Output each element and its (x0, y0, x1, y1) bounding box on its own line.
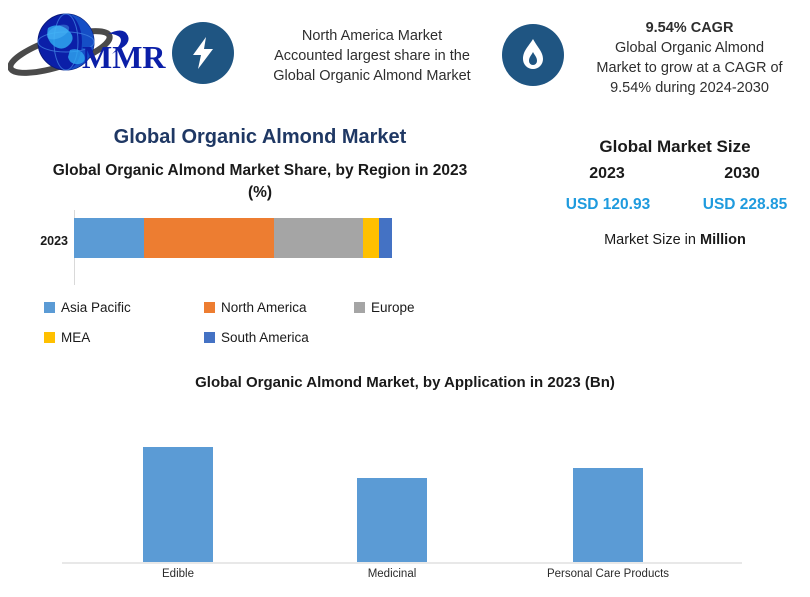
stack-segment-north-america[interactable] (144, 218, 274, 258)
svg-text:MMR: MMR (82, 39, 166, 75)
legend-swatch-icon (44, 332, 55, 343)
bar-medicinal[interactable] (357, 478, 427, 562)
region-share-legend: Asia Pacific North America Europe MEA So… (44, 292, 464, 352)
application-chart-title: Global Organic Almond Market, by Applica… (55, 374, 755, 391)
market-size-title: Global Market Size (540, 137, 810, 157)
legend-label: Asia Pacific (61, 300, 131, 315)
page-title: Global Organic Almond Market (30, 126, 490, 149)
legend-item-south-america[interactable]: South America (204, 330, 354, 345)
market-size-unit-note: Market Size in Million (540, 232, 810, 248)
chart-baseline-axis (62, 562, 742, 564)
lightning-bolt-icon (172, 22, 234, 84)
market-size-year-2023: 2023 (557, 165, 657, 183)
legend-item-europe[interactable]: Europe (354, 300, 464, 315)
bar-label-personal-care-products: Personal Care Products (518, 568, 698, 580)
market-size-value-2023: USD 120.93 (548, 196, 668, 214)
market-size-unit-value: Million (700, 232, 746, 248)
bar-personal-care-products[interactable] (573, 468, 643, 562)
header-line: Accounted largest share in the (244, 46, 500, 66)
application-bar-chart: Edible Medicinal Personal Care Products (0, 400, 810, 597)
mmr-logo: MMR (8, 10, 168, 82)
bar-label-edible: Edible (88, 568, 268, 580)
header-cagr-text: 9.54% CAGR Global Organic Almond Market … (572, 18, 807, 98)
header-line: 9.54% during 2024-2030 (572, 78, 807, 98)
stack-segment-europe[interactable] (274, 218, 363, 258)
legend-swatch-icon (204, 302, 215, 313)
bar-label-medicinal: Medicinal (302, 568, 482, 580)
legend-item-mea[interactable]: MEA (44, 330, 204, 345)
header-highlight-north-america: North America Market Accounted largest s… (172, 22, 502, 92)
legend-swatch-icon (204, 332, 215, 343)
region-share-chart: 2023 (20, 210, 420, 285)
cagr-headline: 9.54% CAGR (572, 18, 807, 38)
legend-row: Asia Pacific North America Europe (44, 292, 464, 322)
stack-segment-south-america[interactable] (379, 218, 392, 258)
flame-icon (502, 24, 564, 86)
header-line: Market to grow at a CAGR of (572, 58, 807, 78)
global-market-size-panel: Global Market Size 2023 2030 USD 120.93 … (540, 130, 810, 265)
region-share-category-label: 2023 (20, 234, 68, 248)
market-size-year-2030: 2030 (692, 165, 792, 183)
market-size-unit-prefix: Market Size in (604, 232, 700, 248)
legend-label: South America (221, 330, 309, 345)
market-size-value-2030: USD 228.85 (685, 196, 805, 214)
legend-item-north-america[interactable]: North America (204, 300, 354, 315)
legend-row: MEA South America (44, 322, 464, 352)
stack-segment-asia-pacific[interactable] (74, 218, 144, 258)
legend-label: Europe (371, 300, 415, 315)
legend-item-asia-pacific[interactable]: Asia Pacific (44, 300, 204, 315)
region-share-chart-title: Global Organic Almond Market Share, by R… (40, 160, 480, 204)
stacked-bar (74, 218, 392, 258)
header-line: Global Organic Almond Market (244, 66, 500, 86)
legend-swatch-icon (354, 302, 365, 313)
header-line: Global Organic Almond (572, 38, 807, 58)
header-banner: MMR North America Market Accounted large… (0, 0, 810, 112)
bar-edible[interactable] (143, 447, 213, 562)
header-highlight-cagr: 9.54% CAGR Global Organic Almond Market … (502, 18, 807, 100)
stack-segment-mea[interactable] (363, 218, 379, 258)
legend-swatch-icon (44, 302, 55, 313)
header-line: North America Market (244, 26, 500, 46)
legend-label: MEA (61, 330, 90, 345)
legend-label: North America (221, 300, 307, 315)
header-highlight-text: North America Market Accounted largest s… (244, 26, 500, 86)
globe-orbit-icon: MMR (8, 10, 168, 82)
